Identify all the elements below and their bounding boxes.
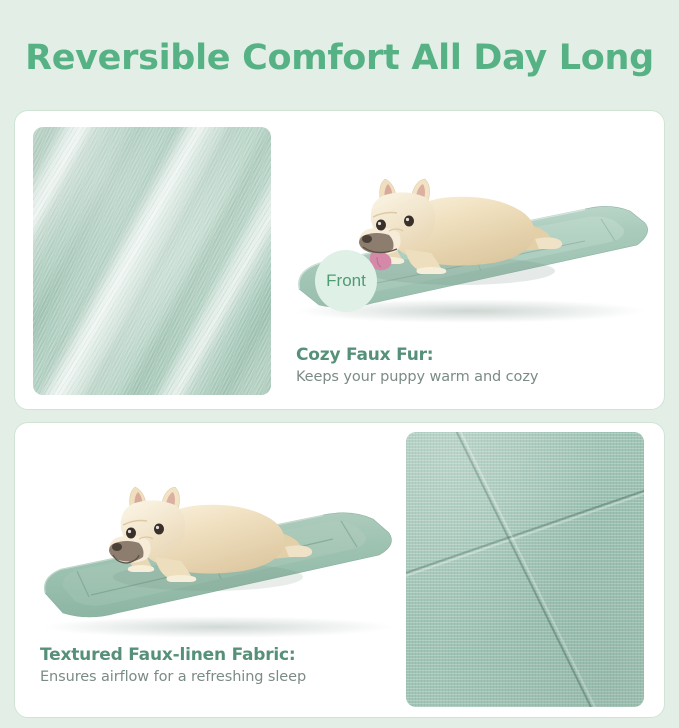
page-title: Reversible Comfort All Day Long [0, 38, 679, 78]
caption-front: Cozy Faux Fur: Keeps your puppy warm and… [296, 345, 538, 385]
caption-back-title: Textured Faux-linen Fabric: [40, 645, 306, 665]
badge-front: Front [315, 250, 377, 312]
caption-front-title: Cozy Faux Fur: [296, 345, 538, 365]
caption-back-subtitle: Ensures airflow for a refreshing sleep [40, 669, 306, 685]
french-bulldog-on-linen-mat-image [33, 461, 403, 646]
faux-linen-closeup-image [406, 432, 644, 707]
product-feature-page: Reversible Comfort All Day Long [0, 0, 679, 728]
caption-back: Textured Faux-linen Fabric: Ensures airf… [40, 645, 306, 685]
faux-fur-closeup-image [33, 127, 271, 395]
fur-sheen-layer [33, 127, 271, 395]
linen-shading-layer [406, 432, 644, 707]
caption-front-subtitle: Keeps your puppy warm and cozy [296, 369, 538, 385]
photo-scene [33, 461, 403, 646]
dog-on-linen-mat-illustration [33, 461, 403, 646]
